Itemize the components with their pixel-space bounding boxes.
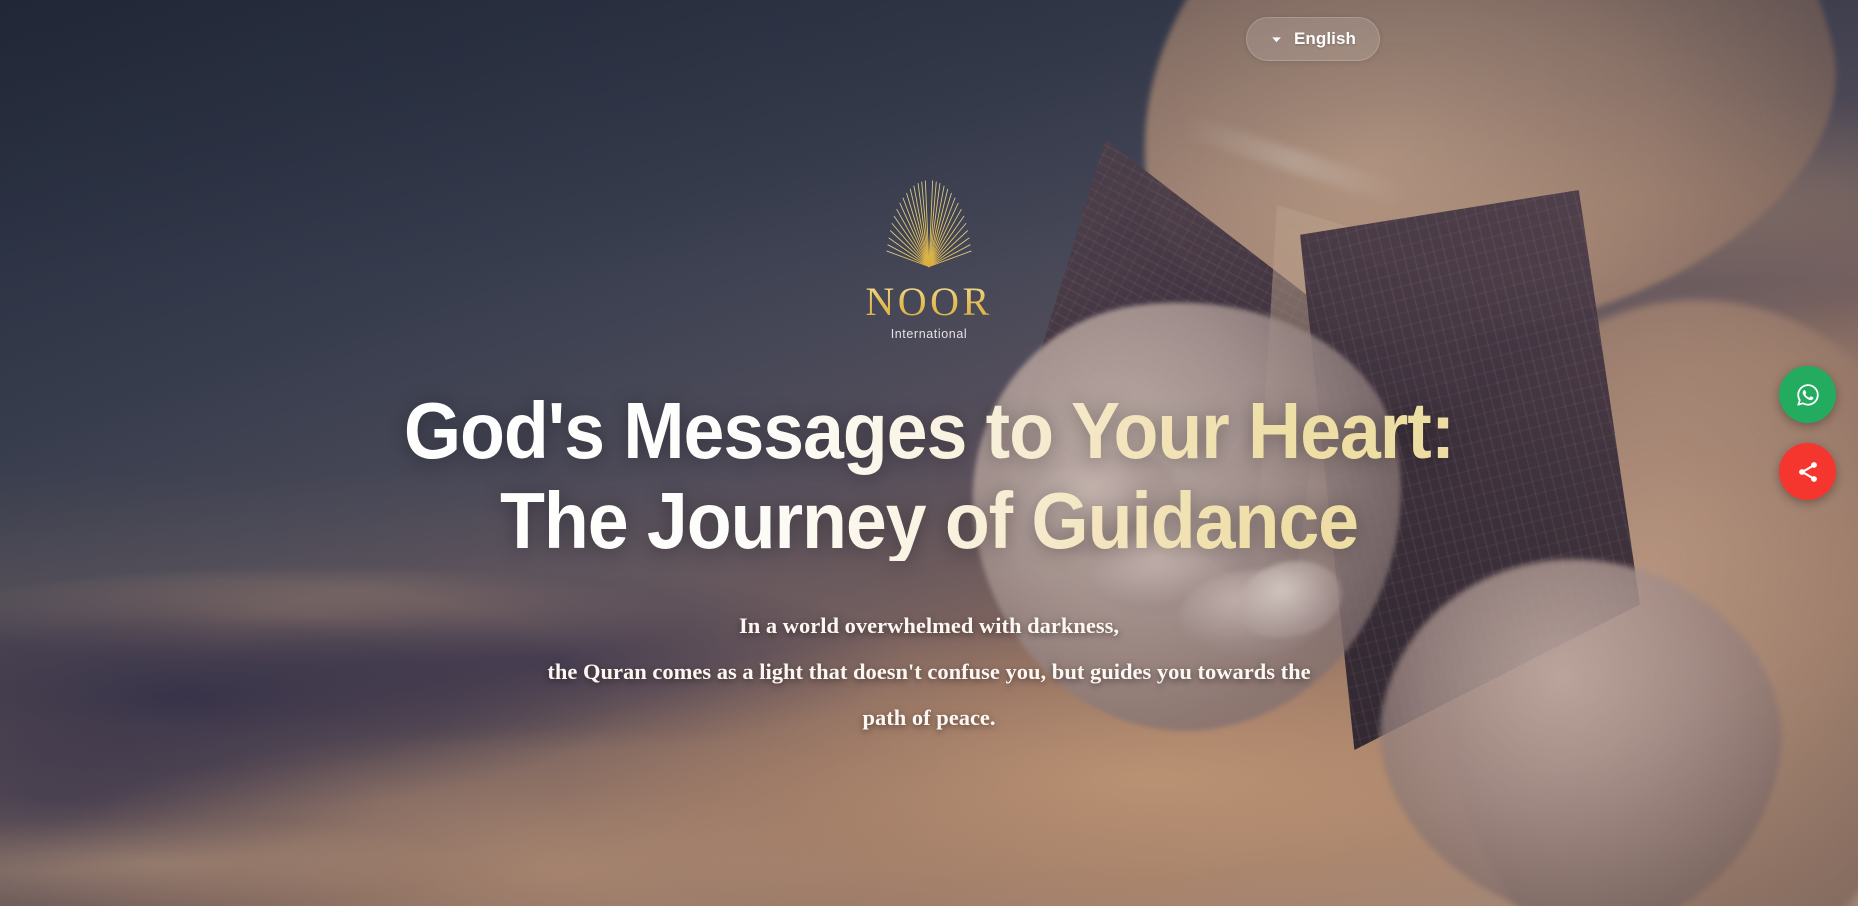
subtitle-line-1: In a world overwhelmed with darkness, <box>489 603 1369 649</box>
hero-subtitle: In a world overwhelmed with darkness, th… <box>489 603 1369 741</box>
headline-line-2: The Journey of Guidance <box>349 481 1508 561</box>
subtitle-line-2: the Quran comes as a light that doesn't … <box>489 649 1369 695</box>
brand-name: NOOR <box>865 282 992 322</box>
sunburst-rays-icon <box>877 172 981 276</box>
hero-section: English <box>0 0 1858 906</box>
share-icon <box>1796 460 1820 484</box>
subtitle-line-3: path of peace. <box>489 695 1369 741</box>
whatsapp-icon <box>1793 380 1823 410</box>
share-button[interactable] <box>1779 443 1836 500</box>
whatsapp-button[interactable] <box>1779 366 1836 423</box>
brand-tagline: International <box>891 327 968 341</box>
headline-line-1: God's Messages to Your Heart: <box>349 391 1508 471</box>
hero-content: NOOR International God's Messages to You… <box>0 0 1858 741</box>
page-title: God's Messages to Your Heart: The Journe… <box>349 391 1508 561</box>
brand-logo: NOOR International <box>865 172 992 341</box>
